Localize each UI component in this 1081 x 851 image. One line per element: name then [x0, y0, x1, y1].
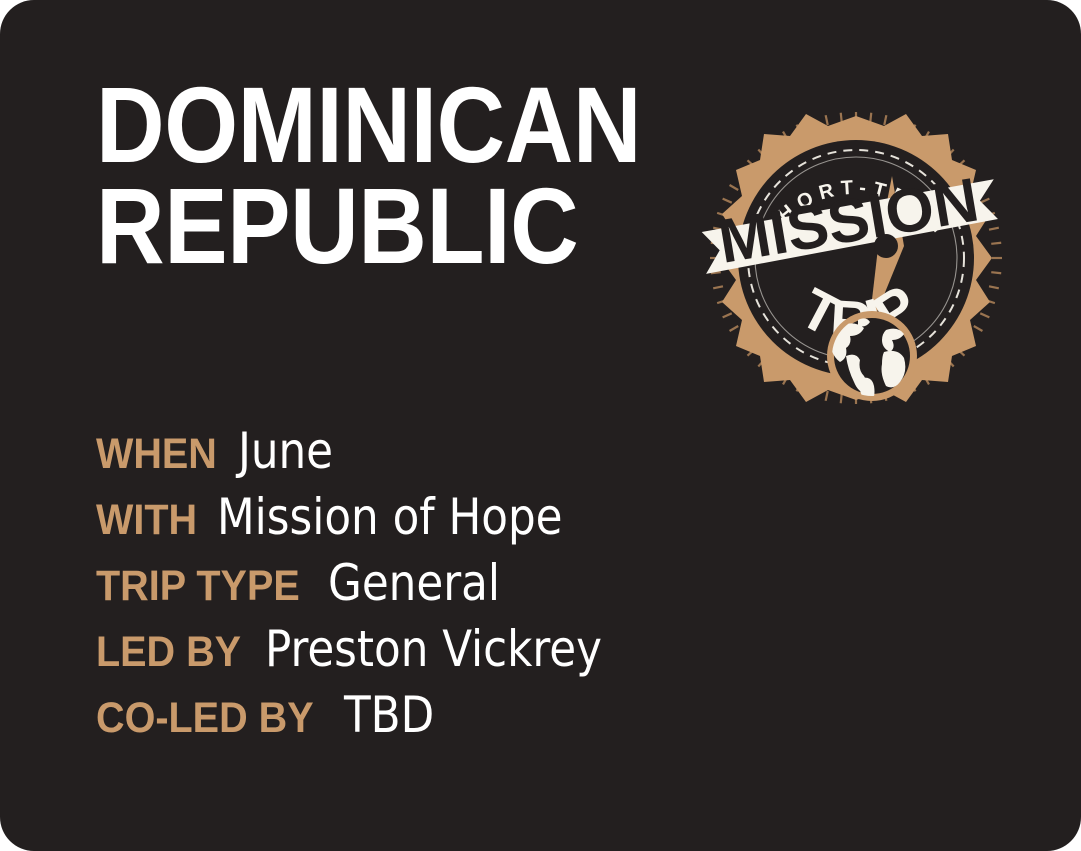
info-value-with: Mission of Hope	[217, 484, 563, 550]
headline-line-1: DOMINICAN	[96, 74, 712, 175]
info-label-with: WITH	[96, 487, 197, 553]
short-term-mission-trip-badge: SHORT-TERM TRIP MISSION	[700, 98, 1012, 413]
list-item: TRIP TYPEGeneral	[96, 550, 856, 616]
headline-line-2: REPUBLIC	[96, 175, 712, 276]
list-item: WITHMission of Hope	[96, 484, 856, 550]
compass-pivot-dot	[874, 234, 898, 258]
info-value-co-led-by: TBD	[344, 682, 434, 748]
info-label-co-led-by: CO-LED BY	[96, 685, 314, 751]
list-item: CO-LED BYTBD	[96, 682, 856, 748]
info-label-when: WHEN	[96, 421, 217, 487]
mission-trip-card: DOMINICAN REPUBLIC	[0, 0, 1081, 851]
trip-details-list: WHENJune WITHMission of Hope TRIP TYPEGe…	[96, 418, 856, 748]
page-title: DOMINICAN REPUBLIC	[96, 74, 796, 276]
info-label-trip-type: TRIP TYPE	[96, 553, 300, 619]
info-label-led-by: LED BY	[96, 619, 241, 685]
list-item: LED BYPreston Vickrey	[96, 616, 856, 682]
info-value-led-by: Preston Vickrey	[265, 616, 602, 682]
list-item: WHENJune	[96, 418, 856, 484]
info-value-when: June	[238, 418, 333, 484]
info-value-trip-type: General	[328, 550, 500, 616]
